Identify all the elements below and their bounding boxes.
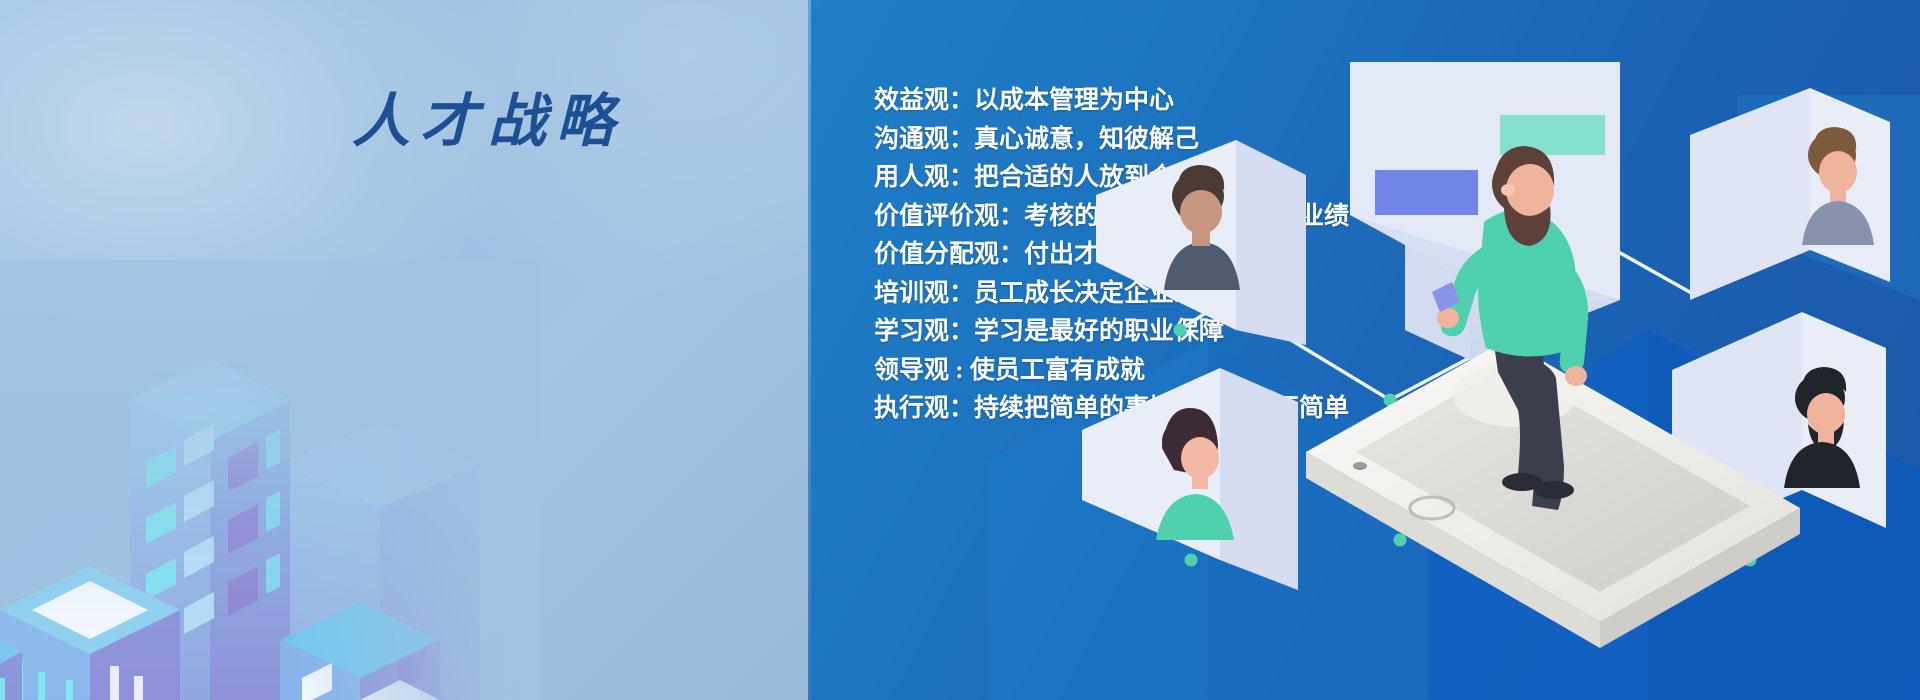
phone-speaker [1353, 462, 1367, 470]
panel-divider [808, 0, 811, 700]
bubble-line-blue [1375, 170, 1478, 215]
right-panel: 效益观：以成本管理为中心 沟通观：真心诚意，知彼解己 用人观：把合适的人放到合适… [808, 0, 1920, 700]
page-title: 人才战略 [352, 74, 624, 158]
isometric-city-illustration [0, 280, 520, 700]
left-panel: 人才战略 [0, 0, 808, 700]
video-card-top-right [1690, 88, 1890, 300]
video-conference-illustration [1060, 0, 1920, 700]
slide-root: 人才战略 效益观：以成本管理为中心 沟通观：真心诚意，知彼解己 用人观：把合适的… [0, 0, 1920, 700]
